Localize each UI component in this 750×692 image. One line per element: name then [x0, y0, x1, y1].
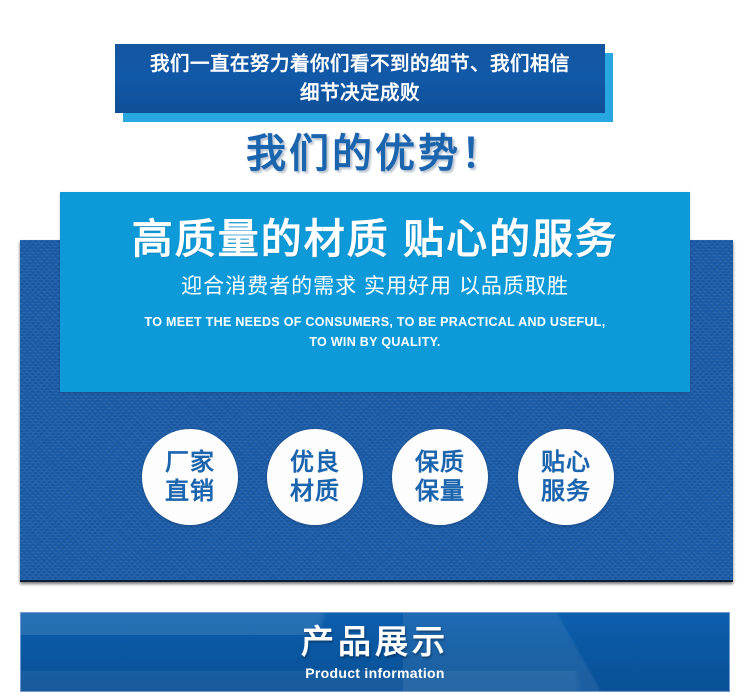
feature-english-line-2: TO WIN BY QUALITY. — [144, 332, 605, 352]
badge-line-2: 材质 — [290, 477, 340, 506]
badge-line-1: 保质 — [415, 448, 465, 477]
product-section-subtitle: Product information — [305, 663, 444, 683]
badge-line-1: 厂家 — [165, 448, 215, 477]
badge-line-1: 贴心 — [541, 448, 591, 477]
badge-guaranteed-quality: 保质 保量 — [392, 429, 488, 525]
headline-ribbon: 我们一直在努力着你们看不到的细节、我们相信 细节决定成败 — [115, 44, 605, 113]
badge-quality-material: 优良 材质 — [267, 429, 363, 525]
advantage-heading: 我们的优势！ — [0, 128, 750, 180]
feature-panel: 高质量的材质 贴心的服务 迎合消费者的需求 实用好用 以品质取胜 TO MEET… — [60, 192, 690, 392]
badge-line-2: 保量 — [415, 477, 465, 506]
badge-row: 厂家 直销 优良 材质 保质 保量 贴心 服务 — [142, 429, 614, 525]
badge-line-2: 服务 — [541, 477, 591, 506]
feature-headline: 高质量的材质 贴心的服务 — [132, 210, 618, 268]
ribbon-line-1: 我们一直在努力着你们看不到的细节、我们相信 — [150, 50, 570, 79]
ribbon-line-2: 细节决定成败 — [300, 79, 420, 108]
product-section-bar: 产品展示 Product information — [20, 612, 730, 692]
badge-line-1: 优良 — [290, 448, 340, 477]
product-section-title: 产品展示 — [301, 622, 449, 662]
feature-subheadline: 迎合消费者的需求 实用好用 以品质取胜 — [181, 268, 569, 306]
ribbon-body: 我们一直在努力着你们看不到的细节、我们相信 细节决定成败 — [115, 44, 605, 113]
feature-english-line-1: TO MEET THE NEEDS OF CONSUMERS, TO BE PR… — [144, 312, 605, 332]
promo-banner: 我们一直在努力着你们看不到的细节、我们相信 细节决定成败 我们的优势！ 高质量的… — [0, 0, 750, 692]
feature-english-block: TO MEET THE NEEDS OF CONSUMERS, TO BE PR… — [144, 312, 605, 352]
badge-line-2: 直销 — [165, 477, 215, 506]
badge-factory-direct: 厂家 直销 — [142, 429, 238, 525]
product-bar-content: 产品展示 Product information — [21, 613, 729, 691]
badge-caring-service: 贴心 服务 — [518, 429, 614, 525]
